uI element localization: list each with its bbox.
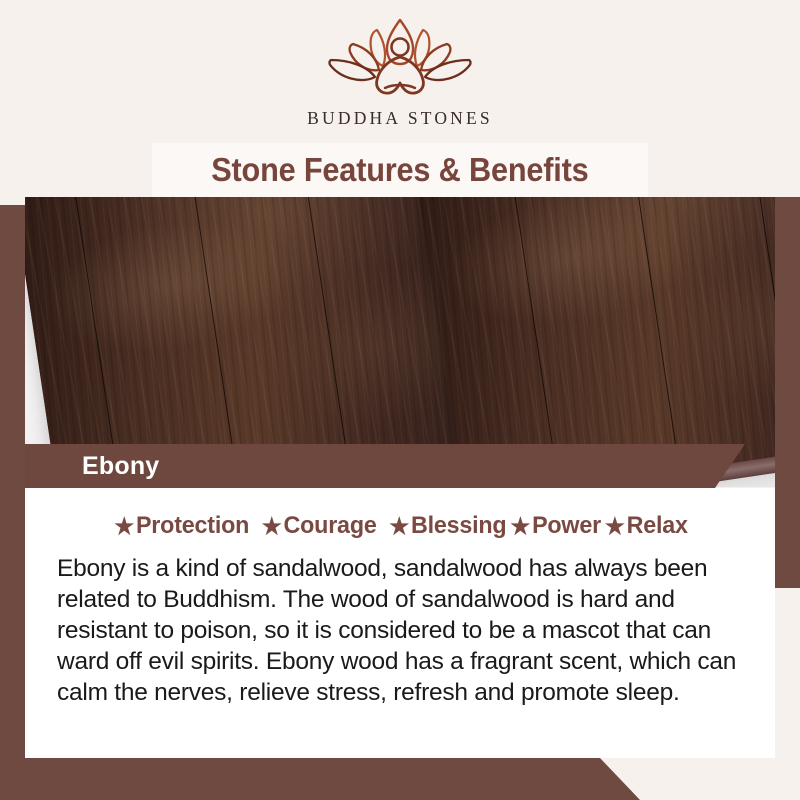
lotus-meditation-icon: [315, 14, 485, 106]
page-title: Stone Features & Benefits: [211, 151, 588, 189]
benefit-label: Courage: [284, 512, 377, 540]
star-icon: ★: [605, 515, 625, 538]
star-icon: ★: [114, 515, 134, 538]
content-section: ★ Protection ★ Courage ★ Blessing ★ Powe…: [25, 488, 775, 758]
brand-logo: BUDDHA STONES: [0, 14, 800, 129]
benefit-label: Relax: [627, 512, 688, 540]
stone-name-label: Ebony: [82, 452, 159, 481]
benefits-list: ★ Protection ★ Courage ★ Blessing ★ Powe…: [67, 512, 734, 540]
header-section: BUDDHA STONES Stone Features & Benefits: [0, 0, 800, 197]
frame-left-bar: [0, 205, 25, 800]
star-icon: ★: [510, 515, 530, 538]
wood-slab-right: [413, 197, 775, 487]
benefit-label: Power: [532, 512, 601, 540]
benefit-item-courage: ★ Courage: [262, 512, 377, 540]
brand-name: BUDDHA STONES: [307, 108, 493, 129]
benefit-item-relax: ★ Relax: [605, 512, 688, 540]
description-text: Ebony is a kind of sandalwood, sandalwoo…: [57, 553, 745, 708]
benefit-label: Protection: [136, 512, 249, 540]
star-icon: ★: [262, 515, 282, 538]
frame-bottom-bar: [0, 758, 640, 800]
ebony-wood-planks-photo: [25, 197, 775, 487]
benefit-item-power: ★ Power: [510, 512, 601, 540]
title-banner: Stone Features & Benefits: [152, 143, 648, 197]
benefit-item-protection: ★ Protection: [114, 512, 249, 540]
benefit-item-blessing: ★ Blessing: [389, 512, 506, 540]
star-icon: ★: [389, 515, 409, 538]
stone-name-banner: Ebony: [25, 444, 745, 488]
poster-root: BUDDHA STONES Stone Features & Benefits …: [0, 0, 800, 800]
benefit-label: Blessing: [411, 512, 506, 540]
